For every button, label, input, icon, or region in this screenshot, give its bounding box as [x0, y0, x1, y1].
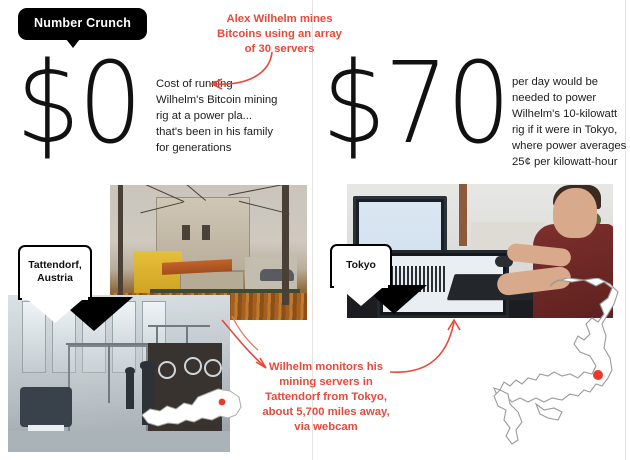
- photo-door-frame: [459, 184, 467, 246]
- annotation-bottom-right-arrow-icon: [388, 318, 478, 380]
- photo-generator: [20, 387, 72, 427]
- number-crunch-badge-label: Number Crunch: [18, 8, 147, 40]
- photo-person-head: [140, 361, 156, 370]
- photo-person: [126, 373, 134, 409]
- photo-window: [202, 225, 210, 240]
- right-body-line: 25¢ per kilowatt-hour: [512, 154, 628, 170]
- right-body-line: per day would be: [512, 74, 628, 90]
- number-crunch-badge: Number Crunch: [18, 8, 147, 40]
- photo-floor: [8, 431, 230, 452]
- tokyo-location-dot: [593, 370, 603, 380]
- photo-person-head: [553, 188, 597, 238]
- right-body-line: rig if it were in Tokyo,: [512, 122, 628, 138]
- pin-tokyo-label: Tokyo: [340, 260, 382, 273]
- pin-seam: [334, 284, 388, 288]
- photo-pipe: [186, 325, 188, 345]
- map-japan: [492, 278, 628, 458]
- austria-map-silhouette: [140, 385, 244, 431]
- photo-window: [182, 225, 190, 240]
- photo-pipe: [66, 343, 148, 345]
- right-body-line: needed to power: [512, 90, 628, 106]
- left-stat-value: $0: [16, 57, 141, 151]
- infographic-canvas: Number Crunch $0 Cost of running Wilhelm…: [0, 0, 630, 460]
- right-body-line: where power averages: [512, 138, 628, 154]
- annotation-bottom-red: Wilhelm monitors his mining servers in T…: [262, 360, 390, 435]
- photo-pipe: [108, 343, 110, 403]
- photo-gauge: [158, 361, 176, 379]
- annotation-top-red: Alex Wilhelm mines Bitcoins using an arr…: [212, 12, 347, 57]
- left-body-line: Wilhelm's Bitcoin mining: [156, 92, 278, 108]
- japan-map-silhouette: [492, 278, 628, 458]
- pin-seam: [22, 296, 88, 300]
- photo-pipe: [156, 325, 158, 345]
- photo-tree-trunk: [282, 185, 289, 305]
- right-body-line: Wilhelm's 10-kilowatt: [512, 106, 628, 122]
- photo-gauge: [184, 357, 202, 375]
- left-body-line: that's been in his family: [156, 124, 278, 140]
- pin-tattendorf-label: Tattendorf, Austria: [20, 260, 90, 285]
- right-stat-value: $70: [322, 57, 509, 151]
- left-stat-body: Cost of running Wilhelm's Bitcoin mining…: [156, 76, 278, 154]
- left-body-line: Cost of running: [156, 76, 278, 92]
- map-austria: [140, 385, 244, 431]
- pin-tattendorf-austria[interactable]: Tattendorf, Austria: [18, 245, 92, 300]
- tattendorf-location-dot: [219, 399, 226, 406]
- pin-tokyo[interactable]: Tokyo: [330, 244, 392, 288]
- annotation-line: Wilhelm monitors his mining servers in T…: [262, 360, 390, 435]
- left-body-line: rig at a power pla...: [156, 108, 278, 124]
- left-body-line: for generations: [156, 140, 278, 154]
- photo-connector-line: [228, 316, 268, 362]
- photo-person-head: [125, 367, 135, 375]
- photo-gauge: [204, 359, 222, 377]
- right-stat-body: per day would be needed to power Wilhelm…: [512, 74, 628, 170]
